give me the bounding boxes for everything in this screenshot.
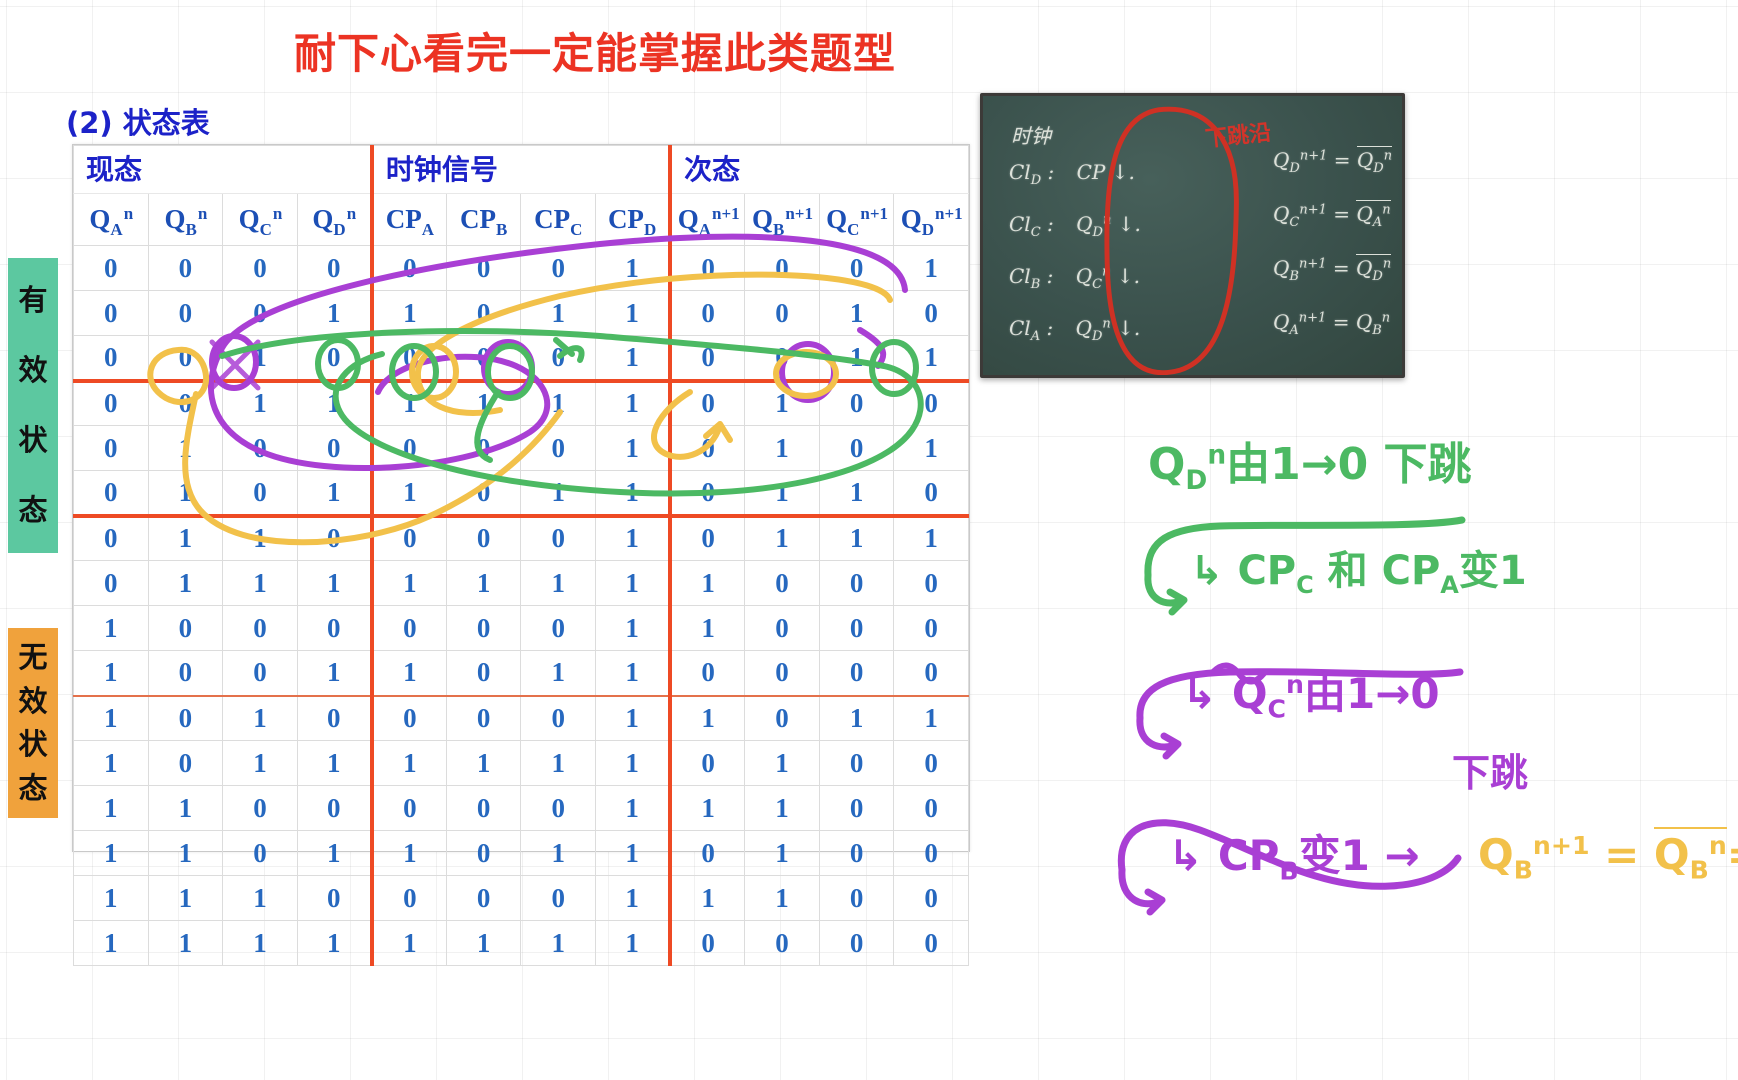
note6-rhs-sub: B bbox=[1690, 855, 1709, 884]
note1-sup: n bbox=[1207, 439, 1226, 470]
note5-sub: B bbox=[1279, 856, 1298, 885]
cell-r13-c8: 0 bbox=[670, 831, 745, 876]
cell-r4-c6: 0 bbox=[521, 426, 596, 471]
cell-r5-c0: 0 bbox=[74, 471, 149, 516]
table-row: 100000011000 bbox=[74, 606, 969, 651]
cell-r3-c1: 0 bbox=[148, 381, 223, 426]
cell-r11-c4: 1 bbox=[372, 741, 447, 786]
blackboard-clock-line-1: ClC : QDn ↓. bbox=[1009, 212, 1141, 240]
valid-label-char-0: 有 bbox=[18, 286, 47, 315]
cell-r12-c4: 0 bbox=[372, 786, 447, 831]
note6-tail: =1 bbox=[1727, 830, 1738, 879]
cell-r14-c8: 1 bbox=[670, 876, 745, 921]
cell-r14-c9: 1 bbox=[745, 876, 820, 921]
cell-r4-c5: 0 bbox=[446, 426, 521, 471]
cell-r14-c4: 0 bbox=[372, 876, 447, 921]
blackboard-heading: 时钟 bbox=[1011, 120, 1051, 149]
cell-r3-c9: 1 bbox=[745, 381, 820, 426]
cell-r15-c10: 0 bbox=[819, 921, 894, 966]
cell-r0-c5: 0 bbox=[446, 246, 521, 291]
cell-r10-c9: 0 bbox=[745, 696, 820, 741]
cell-r12-c1: 1 bbox=[148, 786, 223, 831]
cell-r6-c8: 0 bbox=[670, 516, 745, 561]
table-row: 111000011100 bbox=[74, 876, 969, 921]
note5-a: ↳ CP bbox=[1168, 831, 1279, 880]
cell-r4-c4: 0 bbox=[372, 426, 447, 471]
blackboard-equation-1: QCn+1 = QAn bbox=[1273, 202, 1391, 230]
cell-r11-c2: 1 bbox=[223, 741, 298, 786]
cell-r8-c1: 0 bbox=[148, 606, 223, 651]
cell-r5-c7: 1 bbox=[596, 471, 671, 516]
column-header-Q-A: QAn+1 bbox=[670, 194, 745, 246]
cell-r12-c6: 0 bbox=[521, 786, 596, 831]
note5-b: 变1 → bbox=[1299, 831, 1420, 880]
cell-r15-c0: 1 bbox=[74, 921, 149, 966]
valid-label-char-3: 态 bbox=[18, 496, 47, 525]
cell-r1-c8: 0 bbox=[670, 291, 745, 336]
table-column-header-row: QAnQBnQCnQDnCPACPBCPCCPDQAn+1QBn+1QCn+1Q… bbox=[74, 194, 969, 246]
cell-r12-c2: 0 bbox=[223, 786, 298, 831]
cell-r14-c10: 0 bbox=[819, 876, 894, 921]
cell-r4-c7: 1 bbox=[596, 426, 671, 471]
cell-r7-c1: 1 bbox=[148, 561, 223, 606]
blackboard-clock-line-0: ClD : CP ↓. bbox=[1009, 160, 1135, 188]
column-header-CP-D: CPD bbox=[596, 194, 671, 246]
note1-rest: 由1→0 下跳 bbox=[1226, 439, 1471, 490]
column-header-CP-A: CPA bbox=[372, 194, 447, 246]
cell-r8-c7: 1 bbox=[596, 606, 671, 651]
cell-r5-c5: 0 bbox=[446, 471, 521, 516]
cell-r6-c5: 0 bbox=[446, 516, 521, 561]
cell-r0-c8: 0 bbox=[670, 246, 745, 291]
table-row: 000110110010 bbox=[74, 291, 969, 336]
note2-c: 变1 bbox=[1459, 548, 1527, 594]
cell-r6-c1: 1 bbox=[148, 516, 223, 561]
cell-r10-c10: 1 bbox=[819, 696, 894, 741]
valid-label-char-1: 效 bbox=[18, 356, 47, 385]
cell-r2-c11: 1 bbox=[894, 336, 969, 381]
cell-r13-c11: 0 bbox=[894, 831, 969, 876]
cell-r11-c11: 0 bbox=[894, 741, 969, 786]
cell-r13-c6: 1 bbox=[521, 831, 596, 876]
section-label: (2) 状态表 bbox=[66, 100, 210, 142]
cell-r7-c3: 1 bbox=[297, 561, 372, 606]
cell-r9-c3: 1 bbox=[297, 651, 372, 696]
cell-r4-c9: 1 bbox=[745, 426, 820, 471]
invalid-label-char-1: 效 bbox=[18, 687, 47, 716]
cell-r7-c8: 1 bbox=[670, 561, 745, 606]
table-row: 001000010011 bbox=[74, 336, 969, 381]
cell-r6-c0: 0 bbox=[74, 516, 149, 561]
cell-r9-c2: 0 bbox=[223, 651, 298, 696]
cell-r15-c2: 1 bbox=[223, 921, 298, 966]
cell-r12-c0: 1 bbox=[74, 786, 149, 831]
cell-r3-c5: 1 bbox=[446, 381, 521, 426]
blackboard-red-note: 下跳沿 bbox=[1204, 115, 1273, 154]
cell-r1-c1: 0 bbox=[148, 291, 223, 336]
cell-r13-c0: 1 bbox=[74, 831, 149, 876]
cell-r7-c6: 1 bbox=[521, 561, 596, 606]
cell-r10-c1: 0 bbox=[148, 696, 223, 741]
cell-r9-c4: 1 bbox=[372, 651, 447, 696]
cell-r11-c1: 0 bbox=[148, 741, 223, 786]
cell-r10-c3: 0 bbox=[297, 696, 372, 741]
cell-r1-c11: 0 bbox=[894, 291, 969, 336]
state-table-body: 现态时钟信号次态QAnQBnQCnQDnCPACPBCPCCPDQAn+1QBn… bbox=[74, 146, 969, 966]
cell-r13-c5: 0 bbox=[446, 831, 521, 876]
cell-r6-c3: 0 bbox=[297, 516, 372, 561]
blackboard-clock-line-3: ClA : QDn ↓. bbox=[1009, 316, 1140, 344]
cell-r14-c0: 1 bbox=[74, 876, 149, 921]
cell-r3-c3: 1 bbox=[297, 381, 372, 426]
cell-r5-c9: 1 bbox=[745, 471, 820, 516]
cell-r10-c11: 1 bbox=[894, 696, 969, 741]
cell-r8-c10: 0 bbox=[819, 606, 894, 651]
cell-r1-c9: 0 bbox=[745, 291, 820, 336]
note-line-2: ↳ CPC 和 CPA变1 bbox=[1190, 538, 1527, 599]
cell-r8-c2: 0 bbox=[223, 606, 298, 651]
cell-r0-c9: 0 bbox=[745, 246, 820, 291]
cell-r5-c1: 1 bbox=[148, 471, 223, 516]
cell-r11-c5: 1 bbox=[446, 741, 521, 786]
cell-r5-c2: 0 bbox=[223, 471, 298, 516]
column-header-Q-C: QCn+1 bbox=[819, 194, 894, 246]
cell-r8-c9: 0 bbox=[745, 606, 820, 651]
cell-r7-c7: 1 bbox=[596, 561, 671, 606]
blackboard-photo: 时钟 下跳沿 ClD : CP ↓.ClC : QDn ↓.ClB : QCn … bbox=[980, 93, 1405, 378]
cell-r7-c10: 0 bbox=[819, 561, 894, 606]
cell-r1-c5: 0 bbox=[446, 291, 521, 336]
state-table: 现态时钟信号次态QAnQBnQCnQDnCPACPBCPCCPDQAn+1QBn… bbox=[73, 145, 969, 966]
note3-sub: C bbox=[1268, 694, 1287, 723]
invalid-state-label: 无效状态 bbox=[8, 628, 58, 818]
cell-r13-c3: 1 bbox=[297, 831, 372, 876]
cell-r9-c11: 0 bbox=[894, 651, 969, 696]
cell-r3-c11: 0 bbox=[894, 381, 969, 426]
cell-r3-c0: 0 bbox=[74, 381, 149, 426]
note-line-4: 下跳 bbox=[1452, 742, 1528, 797]
cell-r13-c1: 1 bbox=[148, 831, 223, 876]
cell-r9-c7: 1 bbox=[596, 651, 671, 696]
note1-q: Q bbox=[1148, 439, 1185, 490]
cell-r8-c11: 0 bbox=[894, 606, 969, 651]
blackboard-clock-line-2: ClB : QCn ↓. bbox=[1009, 264, 1140, 292]
cell-r15-c1: 1 bbox=[148, 921, 223, 966]
table-row: 011000010111 bbox=[74, 516, 969, 561]
table-row: 110000011100 bbox=[74, 786, 969, 831]
cell-r5-c4: 1 bbox=[372, 471, 447, 516]
cell-r14-c6: 0 bbox=[521, 876, 596, 921]
cell-r10-c7: 1 bbox=[596, 696, 671, 741]
cell-r9-c1: 0 bbox=[148, 651, 223, 696]
cell-r8-c8: 1 bbox=[670, 606, 745, 651]
cell-r4-c2: 0 bbox=[223, 426, 298, 471]
note6-rhs-base: Q bbox=[1654, 830, 1690, 879]
column-header-Q-B: QBn+1 bbox=[745, 194, 820, 246]
cell-r8-c0: 1 bbox=[74, 606, 149, 651]
cell-r2-c5: 0 bbox=[446, 336, 521, 381]
cell-r0-c2: 0 bbox=[223, 246, 298, 291]
cell-r7-c4: 1 bbox=[372, 561, 447, 606]
cell-r12-c3: 0 bbox=[297, 786, 372, 831]
cell-r9-c6: 1 bbox=[521, 651, 596, 696]
column-header-CP-B: CPB bbox=[446, 194, 521, 246]
cell-r3-c8: 0 bbox=[670, 381, 745, 426]
blackboard-equation-3: QAn+1 = QBn bbox=[1273, 310, 1390, 338]
note6-eq: = bbox=[1589, 830, 1653, 879]
note6-sub: B bbox=[1514, 855, 1533, 884]
cell-r6-c7: 1 bbox=[596, 516, 671, 561]
cell-r5-c8: 0 bbox=[670, 471, 745, 516]
cell-r3-c4: 1 bbox=[372, 381, 447, 426]
cell-r3-c7: 1 bbox=[596, 381, 671, 426]
cell-r2-c6: 0 bbox=[521, 336, 596, 381]
note-line-3: ↳ QCn由1→0 bbox=[1182, 660, 1440, 723]
cell-r11-c8: 0 bbox=[670, 741, 745, 786]
cell-r8-c3: 0 bbox=[297, 606, 372, 651]
note3-a: ↳ Q bbox=[1182, 669, 1268, 718]
cell-r13-c9: 1 bbox=[745, 831, 820, 876]
cell-r5-c11: 0 bbox=[894, 471, 969, 516]
cell-r1-c2: 0 bbox=[223, 291, 298, 336]
group-header-1: 时钟信号 bbox=[372, 146, 670, 194]
invalid-label-char-0: 无 bbox=[18, 643, 47, 672]
invalid-label-char-2: 状 bbox=[18, 730, 47, 759]
cell-r10-c2: 1 bbox=[223, 696, 298, 741]
cell-r0-c6: 0 bbox=[521, 246, 596, 291]
cell-r14-c7: 1 bbox=[596, 876, 671, 921]
table-row: 010000010101 bbox=[74, 426, 969, 471]
cell-r15-c7: 1 bbox=[596, 921, 671, 966]
cell-r14-c1: 1 bbox=[148, 876, 223, 921]
note2-a: ↳ CP bbox=[1190, 548, 1296, 594]
cell-r10-c6: 0 bbox=[521, 696, 596, 741]
column-header-Q-B: QBn bbox=[148, 194, 223, 246]
cell-r1-c3: 1 bbox=[297, 291, 372, 336]
group-header-2: 次态 bbox=[670, 146, 968, 194]
table-group-header-row: 现态时钟信号次态 bbox=[74, 146, 969, 194]
note-line-1: QDn由1→0 下跳 bbox=[1148, 428, 1472, 496]
note2-sub: C bbox=[1296, 571, 1314, 599]
table-row: 111111110000 bbox=[74, 921, 969, 966]
cell-r11-c9: 1 bbox=[745, 741, 820, 786]
cell-r2-c9: 0 bbox=[745, 336, 820, 381]
cell-r4-c1: 1 bbox=[148, 426, 223, 471]
column-header-Q-D: QDn+1 bbox=[894, 194, 969, 246]
table-row: 010110110110 bbox=[74, 471, 969, 516]
cell-r3-c2: 1 bbox=[223, 381, 298, 426]
cell-r12-c8: 1 bbox=[670, 786, 745, 831]
cell-r8-c4: 0 bbox=[372, 606, 447, 651]
cell-r15-c5: 1 bbox=[446, 921, 521, 966]
cell-r10-c4: 0 bbox=[372, 696, 447, 741]
cell-r7-c5: 1 bbox=[446, 561, 521, 606]
note3-b: 由1→0 bbox=[1304, 669, 1440, 718]
cell-r8-c6: 0 bbox=[521, 606, 596, 651]
group-header-0: 现态 bbox=[74, 146, 372, 194]
cell-r1-c4: 1 bbox=[372, 291, 447, 336]
cell-r15-c6: 1 bbox=[521, 921, 596, 966]
cell-r0-c10: 0 bbox=[819, 246, 894, 291]
note6-rhs: QBn bbox=[1654, 827, 1727, 879]
slide-root: 耐下心看完一定能掌握此类题型 (2) 状态表 现态时钟信号次态QAnQBnQCn… bbox=[0, 0, 1738, 1080]
cell-r6-c10: 1 bbox=[819, 516, 894, 561]
cell-r0-c7: 1 bbox=[596, 246, 671, 291]
cell-r7-c11: 0 bbox=[894, 561, 969, 606]
cell-r9-c8: 0 bbox=[670, 651, 745, 696]
cell-r11-c10: 0 bbox=[819, 741, 894, 786]
cell-r11-c6: 1 bbox=[521, 741, 596, 786]
cell-r6-c11: 1 bbox=[894, 516, 969, 561]
cell-r13-c10: 0 bbox=[819, 831, 894, 876]
cell-r2-c10: 1 bbox=[819, 336, 894, 381]
note-line-6: QBn+1 = QBn=1 bbox=[1478, 830, 1738, 884]
cell-r9-c0: 1 bbox=[74, 651, 149, 696]
blackboard-equation-0: QDn+1 = QDn bbox=[1273, 148, 1392, 176]
cell-r15-c11: 0 bbox=[894, 921, 969, 966]
note6-q: Q bbox=[1478, 830, 1514, 879]
cell-r11-c7: 1 bbox=[596, 741, 671, 786]
cell-r4-c0: 0 bbox=[74, 426, 149, 471]
cell-r9-c5: 0 bbox=[446, 651, 521, 696]
cell-r15-c3: 1 bbox=[297, 921, 372, 966]
table-row: 101000011011 bbox=[74, 696, 969, 741]
cell-r12-c5: 0 bbox=[446, 786, 521, 831]
cell-r1-c7: 1 bbox=[596, 291, 671, 336]
cell-r11-c0: 1 bbox=[74, 741, 149, 786]
valid-state-label: 有效状态 bbox=[8, 258, 58, 553]
table-row: 011111111000 bbox=[74, 561, 969, 606]
column-header-Q-C: QCn bbox=[223, 194, 298, 246]
cell-r2-c7: 1 bbox=[596, 336, 671, 381]
cell-r5-c10: 1 bbox=[819, 471, 894, 516]
state-table-container: 现态时钟信号次态QAnQBnQCnQDnCPACPBCPCCPDQAn+1QBn… bbox=[72, 144, 970, 852]
cell-r0-c3: 0 bbox=[297, 246, 372, 291]
cell-r3-c6: 1 bbox=[521, 381, 596, 426]
cell-r2-c8: 0 bbox=[670, 336, 745, 381]
column-header-Q-D: QDn bbox=[297, 194, 372, 246]
cell-r7-c9: 0 bbox=[745, 561, 820, 606]
cell-r13-c4: 1 bbox=[372, 831, 447, 876]
cell-r14-c2: 1 bbox=[223, 876, 298, 921]
table-row: 001111110100 bbox=[74, 381, 969, 426]
valid-label-char-2: 状 bbox=[18, 426, 47, 455]
cell-r6-c9: 1 bbox=[745, 516, 820, 561]
cell-r12-c7: 1 bbox=[596, 786, 671, 831]
note3-sup: n bbox=[1286, 670, 1304, 699]
cell-r7-c0: 0 bbox=[74, 561, 149, 606]
note6-sup: n+1 bbox=[1533, 831, 1590, 860]
column-header-CP-C: CPC bbox=[521, 194, 596, 246]
cell-r14-c5: 0 bbox=[446, 876, 521, 921]
cell-r1-c10: 1 bbox=[819, 291, 894, 336]
cell-r2-c0: 0 bbox=[74, 336, 149, 381]
cell-r1-c6: 1 bbox=[521, 291, 596, 336]
cell-r15-c9: 0 bbox=[745, 921, 820, 966]
cell-r0-c0: 0 bbox=[74, 246, 149, 291]
cell-r4-c8: 0 bbox=[670, 426, 745, 471]
invalid-label-char-3: 态 bbox=[18, 774, 47, 803]
cell-r8-c5: 0 bbox=[446, 606, 521, 651]
cell-r0-c11: 1 bbox=[894, 246, 969, 291]
table-row: 000000010001 bbox=[74, 246, 969, 291]
cell-r0-c1: 0 bbox=[148, 246, 223, 291]
cell-r2-c1: 0 bbox=[148, 336, 223, 381]
cell-r6-c6: 0 bbox=[521, 516, 596, 561]
cell-r9-c9: 0 bbox=[745, 651, 820, 696]
cell-r6-c2: 1 bbox=[223, 516, 298, 561]
cell-r13-c2: 0 bbox=[223, 831, 298, 876]
cell-r13-c7: 1 bbox=[596, 831, 671, 876]
note2-sub-b: A bbox=[1440, 571, 1459, 599]
cell-r11-c3: 1 bbox=[297, 741, 372, 786]
blackboard-equation-2: QBn+1 = QDn bbox=[1273, 256, 1391, 284]
table-row: 101111110100 bbox=[74, 741, 969, 786]
cell-r3-c10: 0 bbox=[819, 381, 894, 426]
cell-r7-c2: 1 bbox=[223, 561, 298, 606]
cell-r12-c9: 1 bbox=[745, 786, 820, 831]
page-title: 耐下心看完一定能掌握此类题型 bbox=[0, 20, 1190, 81]
note-line-5: ↳ CPB变1 → bbox=[1168, 822, 1420, 885]
cell-r14-c11: 0 bbox=[894, 876, 969, 921]
cell-r0-c4: 0 bbox=[372, 246, 447, 291]
cell-r4-c11: 1 bbox=[894, 426, 969, 471]
table-row: 110110110100 bbox=[74, 831, 969, 876]
cell-r4-c3: 0 bbox=[297, 426, 372, 471]
cell-r12-c10: 0 bbox=[819, 786, 894, 831]
note2-b: 和 CP bbox=[1314, 548, 1441, 594]
cell-r1-c0: 0 bbox=[74, 291, 149, 336]
cell-r10-c5: 0 bbox=[446, 696, 521, 741]
cell-r2-c3: 0 bbox=[297, 336, 372, 381]
cell-r15-c4: 1 bbox=[372, 921, 447, 966]
cell-r10-c8: 1 bbox=[670, 696, 745, 741]
cell-r10-c0: 1 bbox=[74, 696, 149, 741]
cell-r6-c4: 0 bbox=[372, 516, 447, 561]
column-header-Q-A: QAn bbox=[74, 194, 149, 246]
cell-r15-c8: 0 bbox=[670, 921, 745, 966]
cell-r2-c2: 1 bbox=[223, 336, 298, 381]
cell-r12-c11: 0 bbox=[894, 786, 969, 831]
cell-r14-c3: 0 bbox=[297, 876, 372, 921]
cell-r9-c10: 0 bbox=[819, 651, 894, 696]
note6-rhs-sup: n bbox=[1709, 831, 1727, 860]
note1-sub: D bbox=[1185, 465, 1207, 496]
cell-r2-c4: 0 bbox=[372, 336, 447, 381]
cell-r5-c3: 1 bbox=[297, 471, 372, 516]
cell-r4-c10: 0 bbox=[819, 426, 894, 471]
cell-r5-c6: 1 bbox=[521, 471, 596, 516]
table-row: 100110110000 bbox=[74, 651, 969, 696]
